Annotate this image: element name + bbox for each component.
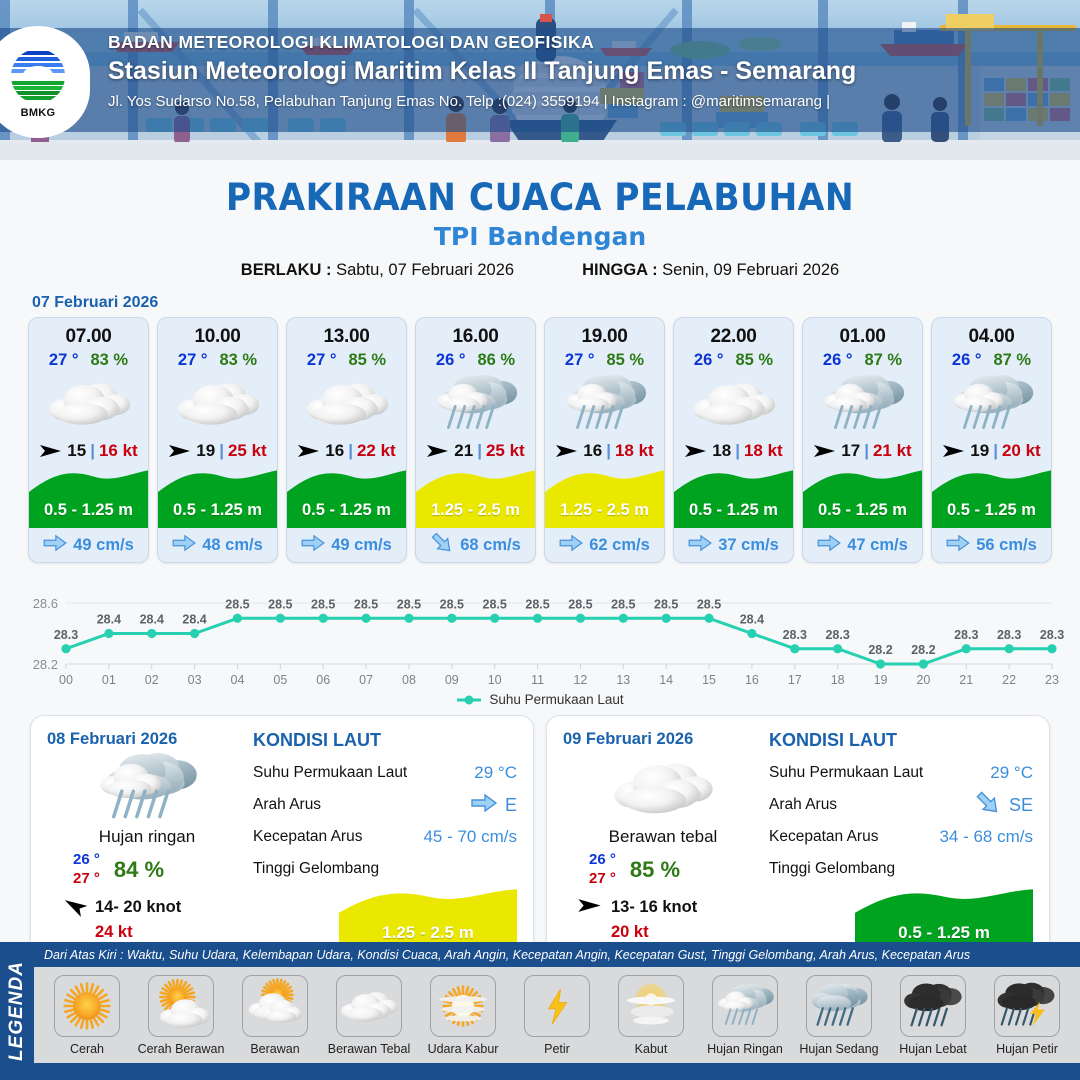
hourly-current-row: 48 cm/s (158, 528, 277, 562)
svg-text:04: 04 (231, 673, 245, 687)
sst-chart: 28.628.200010203040506070809101112131415… (14, 575, 1066, 690)
hourly-gust-speed: 21 kt (873, 441, 912, 461)
daily-wind-speed: 14- 20 knot (95, 898, 181, 917)
legenda-item: Hujan Petir (980, 975, 1074, 1056)
svg-text:05: 05 (273, 673, 287, 687)
hourly-current-speed: 37 cm/s (718, 536, 779, 555)
legenda-side-text: LEGENDA (6, 961, 28, 1061)
hourly-current-row: 62 cm/s (545, 528, 664, 562)
hourly-gust-speed: 25 kt (228, 441, 267, 461)
legenda-item-label: Cerah (70, 1042, 104, 1056)
svg-text:03: 03 (188, 673, 202, 687)
hujan-petir-icon (994, 975, 1060, 1037)
berawan-tebal-icon (158, 372, 277, 434)
hourly-card: 07.00 27 ° 83 % (28, 317, 149, 563)
hourly-humidity: 85 % (606, 351, 644, 370)
svg-text:28.5: 28.5 (354, 597, 378, 611)
cerah-icon (54, 975, 120, 1037)
svg-text:28.5: 28.5 (611, 597, 635, 611)
legenda-item: Cerah (40, 975, 134, 1056)
svg-text:28.5: 28.5 (568, 597, 592, 611)
svg-text:09: 09 (445, 673, 459, 687)
legenda-item-label: Hujan Lebat (899, 1042, 966, 1056)
wind-direction-arrow-icon (426, 443, 450, 459)
legenda-item: Hujan Lebat (886, 975, 980, 1056)
hourly-wave-height: 0.5 - 1.25 m (158, 501, 277, 520)
svg-text:10: 10 (488, 673, 502, 687)
legenda-item-label: Hujan Ringan (707, 1042, 783, 1056)
legenda-item-label: Hujan Sedang (799, 1042, 878, 1056)
hourly-temperature: 26 ° (823, 351, 853, 370)
svg-text:28.4: 28.4 (140, 613, 164, 627)
svg-text:28.4: 28.4 (97, 613, 121, 627)
hourly-time: 10.00 (158, 318, 277, 348)
wind-direction-arrow-icon (684, 443, 708, 459)
hujan-sedang-icon (806, 975, 872, 1037)
hourly-wave-height: 0.5 - 1.25 m (29, 501, 148, 520)
hourly-wind-separator: | (219, 441, 224, 461)
hujan-ringan-icon (803, 372, 922, 434)
svg-text:28.5: 28.5 (225, 597, 249, 611)
page-subtitle: TPI Bandengan (0, 222, 1080, 251)
bmkg-logo-label: BMKG (7, 107, 69, 119)
hourly-wind-separator: | (90, 441, 95, 461)
daily-sea-value: 34 - 68 cm/s (939, 827, 1033, 847)
hourly-temp-humidity: 26 ° 87 % (803, 348, 922, 370)
wind-direction-arrow-icon (813, 443, 837, 459)
hourly-wind-speed: 16 (325, 441, 344, 461)
wind-direction-arrow-icon (577, 897, 603, 919)
daily-sea-value: 29 °C (474, 763, 517, 783)
hourly-current-row: 37 cm/s (674, 528, 793, 562)
svg-text:28.3: 28.3 (825, 628, 849, 642)
hourly-current-speed: 49 cm/s (331, 536, 392, 555)
current-direction-arrow-icon (301, 534, 325, 557)
hourly-time: 16.00 (416, 318, 535, 348)
daily-sea-row: Arah Arus SE (769, 789, 1033, 821)
daily-sea-label: Arah Arus (253, 796, 471, 814)
svg-text:19: 19 (874, 673, 888, 687)
current-direction-arrow-icon (688, 534, 712, 557)
legend-marker-icon (456, 694, 482, 706)
hujan-ringan-icon (416, 372, 535, 434)
hourly-wave-height: 1.25 - 2.5 m (416, 501, 535, 520)
hourly-gust-speed: 22 kt (357, 441, 396, 461)
daily-sea-value: E (505, 795, 517, 816)
daily-sea-label: Arah Arus (769, 796, 975, 814)
wind-direction-arrow-icon (61, 897, 87, 919)
hourly-card: 01.00 26 ° 87 % (802, 317, 923, 563)
svg-text:11: 11 (531, 673, 544, 687)
svg-text:16: 16 (745, 673, 759, 687)
daily-sea-row: Tinggi Gelombang (253, 853, 517, 885)
hourly-wave-height: 0.5 - 1.25 m (674, 501, 793, 520)
current-direction-arrow-icon (430, 534, 454, 557)
hourly-current-row: 49 cm/s (29, 528, 148, 562)
hourly-card: 04.00 26 ° 87 % (931, 317, 1052, 563)
hourly-wind-row: 18 | 18 kt (674, 434, 793, 468)
current-direction-arrow-icon (946, 534, 970, 557)
svg-text:06: 06 (316, 673, 330, 687)
hourly-wave-graphic: 1.25 - 2.5 m (545, 468, 664, 528)
hourly-wave-graphic: 0.5 - 1.25 m (287, 468, 406, 528)
daily-sea-title: KONDISI LAUT (253, 730, 517, 751)
wind-direction-arrow-icon (39, 443, 63, 459)
hourly-wind-separator: | (348, 441, 353, 461)
hourly-humidity: 87 % (993, 351, 1031, 370)
legenda-item: Hujan Sedang (792, 975, 886, 1056)
hourly-wind-row: 21 | 25 kt (416, 434, 535, 468)
svg-text:28.5: 28.5 (525, 597, 549, 611)
daily-temp-max: 27 ° (73, 870, 100, 887)
svg-text:15: 15 (702, 673, 716, 687)
hourly-wind-separator: | (606, 441, 611, 461)
hourly-temp-humidity: 27 ° 85 % (287, 348, 406, 370)
hourly-current-speed: 47 cm/s (847, 536, 908, 555)
hourly-wave-height: 0.5 - 1.25 m (932, 501, 1051, 520)
legenda-item-label: Kabut (635, 1042, 668, 1056)
wind-direction-arrow-icon (555, 443, 579, 459)
svg-text:28.5: 28.5 (483, 597, 507, 611)
validity-row: BERLAKU : Sabtu, 07 Februari 2026 HINGGA… (0, 261, 1080, 280)
svg-text:28.6: 28.6 (33, 596, 58, 611)
hourly-time: 01.00 (803, 318, 922, 348)
daily-humidity: 85 % (630, 857, 680, 883)
hourly-temperature: 27 ° (49, 351, 79, 370)
hourly-wave-graphic: 0.5 - 1.25 m (674, 468, 793, 528)
hourly-temperature: 27 ° (178, 351, 208, 370)
valid-from: BERLAKU : Sabtu, 07 Februari 2026 (241, 261, 514, 280)
cerah-berawan-icon (148, 975, 214, 1037)
legenda-item: Hujan Ringan (698, 975, 792, 1056)
daily-sea-value: 45 - 70 cm/s (423, 827, 517, 847)
svg-text:28.2: 28.2 (868, 643, 892, 657)
daily-sea-value: SE (1009, 795, 1033, 816)
daily-condition: Hujan ringan (47, 827, 247, 847)
hourly-wave-graphic: 0.5 - 1.25 m (932, 468, 1051, 528)
daily-sea-block: KONDISI LAUT Suhu Permukaan Laut 29 °C A… (247, 730, 517, 948)
legenda-note: Dari Atas Kiri : Waktu, Suhu Udara, Kele… (34, 948, 1080, 967)
current-direction-arrow-icon (172, 534, 196, 557)
hourly-wind-speed: 15 (67, 441, 86, 461)
petir-icon (524, 975, 590, 1037)
svg-text:28.5: 28.5 (397, 597, 421, 611)
legenda-item: Petir (510, 975, 604, 1056)
hourly-wind-row: 19 | 20 kt (932, 434, 1051, 468)
hourly-current-row: 49 cm/s (287, 528, 406, 562)
daily-sea-row: Suhu Permukaan Laut 29 °C (769, 757, 1033, 789)
legenda-item: Berawan (228, 975, 322, 1056)
daily-sea-label: Suhu Permukaan Laut (253, 764, 474, 782)
legenda-item: Kabut (604, 975, 698, 1056)
svg-text:12: 12 (573, 673, 587, 687)
hourly-current-row: 68 cm/s (416, 528, 535, 562)
hourly-wind-separator: | (864, 441, 869, 461)
daily-wind-row: 14- 20 knot (47, 897, 247, 919)
svg-text:28.3: 28.3 (54, 628, 78, 642)
svg-text:13: 13 (616, 673, 630, 687)
valid-to: HINGGA : Senin, 09 Februari 2026 (582, 261, 839, 280)
hourly-humidity: 83 % (90, 351, 128, 370)
daily-gust-speed: 24 kt (47, 923, 247, 942)
hourly-temperature: 27 ° (565, 351, 595, 370)
weather-forecast-infographic: BMKG BADAN METEOROLOGI KLIMATOLOGI DAN G… (0, 0, 1080, 1080)
hourly-temp-humidity: 27 ° 85 % (545, 348, 664, 370)
svg-text:28.5: 28.5 (440, 597, 464, 611)
legenda-item: Udara Kabur (416, 975, 510, 1056)
daily-wave-graphic: 1.25 - 2.5 m (339, 888, 517, 950)
hourly-wind-speed: 19 (970, 441, 989, 461)
daily-sea-label: Suhu Permukaan Laut (769, 764, 990, 782)
hourly-wave-graphic: 0.5 - 1.25 m (158, 468, 277, 528)
hourly-current-speed: 49 cm/s (73, 536, 134, 555)
berawan-tebal-icon (287, 372, 406, 434)
daily-temp-humidity: 26 ° 27 ° 85 % (563, 851, 763, 889)
hujan-lebat-icon (900, 975, 966, 1037)
berawan-icon (242, 975, 308, 1037)
hourly-current-speed: 68 cm/s (460, 536, 521, 555)
daily-condition: Berawan tebal (563, 827, 763, 847)
legenda-item-label: Berawan (250, 1042, 299, 1056)
hourly-date-label: 07 Februari 2026 (32, 294, 1080, 312)
current-direction-arrow-icon (471, 793, 497, 818)
bmkg-logo: BMKG (0, 26, 90, 138)
svg-text:28.3: 28.3 (997, 628, 1021, 642)
wind-direction-arrow-icon (942, 443, 966, 459)
daily-date: 09 Februari 2026 (563, 730, 763, 749)
hourly-wind-speed: 16 (583, 441, 602, 461)
legenda-side-label: LEGENDA (0, 942, 34, 1080)
daily-temp-min: 26 ° (589, 851, 616, 868)
hourly-current-speed: 48 cm/s (202, 536, 263, 555)
svg-text:18: 18 (831, 673, 845, 687)
header-bottom-strip (0, 142, 1080, 160)
hourly-temp-humidity: 26 ° 86 % (416, 348, 535, 370)
svg-text:07: 07 (359, 673, 373, 687)
daily-humidity: 84 % (114, 857, 164, 883)
daily-sea-row: Kecepatan Arus 34 - 68 cm/s (769, 821, 1033, 853)
current-direction-arrow-icon (817, 534, 841, 557)
svg-text:28.3: 28.3 (954, 628, 978, 642)
daily-sea-label: Kecepatan Arus (769, 828, 939, 846)
station-name: Stasiun Meteorologi Maritim Kelas II Tan… (108, 57, 1073, 86)
current-direction-arrow-icon (559, 534, 583, 557)
daily-temp-min: 26 ° (73, 851, 100, 868)
hourly-card: 16.00 26 ° 86 % (415, 317, 536, 563)
chart-legend-label: Suhu Permukaan Laut (489, 692, 623, 707)
hourly-card: 19.00 27 ° 85 % (544, 317, 665, 563)
svg-text:28.3: 28.3 (1040, 628, 1064, 642)
svg-text:20: 20 (916, 673, 930, 687)
valid-from-label: BERLAKU : (241, 261, 332, 279)
svg-text:28.2: 28.2 (911, 643, 935, 657)
daily-sea-row: Kecepatan Arus 45 - 70 cm/s (253, 821, 517, 853)
hourly-gust-speed: 18 kt (615, 441, 654, 461)
svg-text:28.4: 28.4 (182, 613, 206, 627)
hourly-wind-separator: | (993, 441, 998, 461)
hourly-current-row: 47 cm/s (803, 528, 922, 562)
daily-sea-label: Kecepatan Arus (253, 828, 423, 846)
daily-gust-speed: 20 kt (563, 923, 763, 942)
daily-left-block: 08 Februari 2026 Hujan ringan (47, 730, 247, 948)
svg-text:28.3: 28.3 (783, 628, 807, 642)
hourly-card: 10.00 27 ° 83 % (157, 317, 278, 563)
daily-current-direction: SE (975, 793, 1033, 818)
svg-text:28.4: 28.4 (740, 613, 764, 627)
svg-text:14: 14 (659, 673, 673, 687)
hourly-wind-speed: 17 (841, 441, 860, 461)
hourly-wave-height: 1.25 - 2.5 m (545, 501, 664, 520)
hourly-time: 22.00 (674, 318, 793, 348)
hourly-forecast-row: 07.00 27 ° 83 % (0, 317, 1080, 563)
hourly-wave-graphic: 0.5 - 1.25 m (803, 468, 922, 528)
hourly-humidity: 87 % (864, 351, 902, 370)
hourly-humidity: 85 % (735, 351, 773, 370)
legenda-item: Cerah Berawan (134, 975, 228, 1056)
daily-wave-height: 1.25 - 2.5 m (339, 923, 517, 943)
daily-temp-max: 27 ° (589, 870, 616, 887)
daily-wind-row: 13- 16 knot (563, 897, 763, 919)
svg-text:28.5: 28.5 (268, 597, 292, 611)
svg-text:00: 00 (59, 673, 73, 687)
svg-text:28.5: 28.5 (311, 597, 335, 611)
hourly-wind-row: 19 | 25 kt (158, 434, 277, 468)
hourly-wind-row: 16 | 18 kt (545, 434, 664, 468)
hourly-temp-humidity: 26 ° 87 % (932, 348, 1051, 370)
hourly-current-row: 56 cm/s (932, 528, 1051, 562)
hourly-gust-speed: 20 kt (1002, 441, 1041, 461)
hourly-wind-row: 17 | 21 kt (803, 434, 922, 468)
hujan-ringan-icon (932, 372, 1051, 434)
daily-sea-row: Suhu Permukaan Laut 29 °C (253, 757, 517, 789)
legenda-main: Dari Atas Kiri : Waktu, Suhu Udara, Kele… (34, 942, 1080, 1080)
daily-forecast-card: 08 Februari 2026 Hujan ringan (30, 715, 534, 963)
hourly-wind-speed: 18 (712, 441, 731, 461)
hourly-wind-speed: 19 (196, 441, 215, 461)
agency-name: BADAN METEOROLOGI KLIMATOLOGI DAN GEOFIS… (108, 32, 1073, 53)
hourly-card: 13.00 27 ° 85 % (286, 317, 407, 563)
hourly-temperature: 26 ° (436, 351, 466, 370)
hujan-ringan-icon (47, 751, 247, 823)
current-direction-arrow-icon (43, 534, 67, 557)
kabut-icon (618, 975, 684, 1037)
hourly-temp-humidity: 26 ° 85 % (674, 348, 793, 370)
header-text-block: BADAN METEOROLOGI KLIMATOLOGI DAN GEOFIS… (108, 32, 1073, 110)
wind-direction-arrow-icon (297, 443, 321, 459)
hourly-wind-separator: | (735, 441, 740, 461)
hourly-time: 07.00 (29, 318, 148, 348)
valid-to-label: HINGGA : (582, 261, 657, 279)
berawan-tebal-icon (563, 751, 763, 823)
svg-text:02: 02 (145, 673, 159, 687)
berawan-tebal-icon (674, 372, 793, 434)
hourly-wave-height: 0.5 - 1.25 m (287, 501, 406, 520)
valid-to-value: Senin, 09 Februari 2026 (662, 261, 839, 279)
legenda-item-label: Cerah Berawan (138, 1042, 225, 1056)
hourly-wind-row: 15 | 16 kt (29, 434, 148, 468)
hourly-time: 13.00 (287, 318, 406, 348)
legenda-item-label: Udara Kabur (428, 1042, 499, 1056)
daily-sea-label: Tinggi Gelombang (253, 860, 517, 878)
svg-text:28.5: 28.5 (697, 597, 721, 611)
legenda-items: Cerah Cerah Berawan (34, 967, 1080, 1063)
daily-sea-block: KONDISI LAUT Suhu Permukaan Laut 29 °C A… (763, 730, 1033, 948)
svg-text:23: 23 (1045, 673, 1059, 687)
hourly-temperature: 26 ° (694, 351, 724, 370)
legenda-section: LEGENDA Dari Atas Kiri : Waktu, Suhu Uda… (0, 942, 1080, 1080)
svg-text:01: 01 (102, 673, 116, 687)
svg-text:08: 08 (402, 673, 416, 687)
berawan-tebal-icon (29, 372, 148, 434)
berawan-tebal-icon (336, 975, 402, 1037)
daily-sea-row: Arah Arus E (253, 789, 517, 821)
hourly-current-speed: 56 cm/s (976, 536, 1037, 555)
hourly-card: 22.00 26 ° 85 % (673, 317, 794, 563)
hourly-humidity: 83 % (219, 351, 257, 370)
page-title: PRAKIRAAN CUACA PELABUHAN (38, 176, 1042, 219)
daily-sea-label: Tinggi Gelombang (769, 860, 1033, 878)
hourly-wave-height: 0.5 - 1.25 m (803, 501, 922, 520)
svg-text:22: 22 (1002, 673, 1016, 687)
daily-forecast-card: 09 Februari 2026 Berawan tebal (546, 715, 1050, 963)
legenda-item: Berawan Tebal (322, 975, 416, 1056)
hourly-humidity: 85 % (348, 351, 386, 370)
title-block: PRAKIRAAN CUACA PELABUHAN TPI Bandengan … (0, 176, 1080, 280)
daily-forecast-row: 08 Februari 2026 Hujan ringan (0, 707, 1080, 963)
hourly-temp-humidity: 27 ° 83 % (158, 348, 277, 370)
svg-text:28.2: 28.2 (33, 657, 58, 672)
svg-text:28.5: 28.5 (654, 597, 678, 611)
legenda-item-label: Petir (544, 1042, 570, 1056)
hourly-temperature: 26 ° (952, 351, 982, 370)
hourly-wind-speed: 21 (454, 441, 473, 461)
daily-sea-title: KONDISI LAUT (769, 730, 1033, 751)
daily-sea-row: Tinggi Gelombang (769, 853, 1033, 885)
hourly-wind-separator: | (477, 441, 482, 461)
chart-legend: Suhu Permukaan Laut (0, 692, 1080, 707)
daily-wave-graphic: 0.5 - 1.25 m (855, 888, 1033, 950)
daily-current-direction: E (471, 793, 517, 818)
station-address: Jl. Yos Sudarso No.58, Pelabuhan Tanjung… (108, 93, 1073, 110)
daily-sea-value: 29 °C (990, 763, 1033, 783)
valid-from-value: Sabtu, 07 Februari 2026 (336, 261, 514, 279)
daily-left-block: 09 Februari 2026 Berawan tebal (563, 730, 763, 948)
hourly-gust-speed: 16 kt (99, 441, 138, 461)
daily-wind-speed: 13- 16 knot (611, 898, 697, 917)
udara-kabur-icon (430, 975, 496, 1037)
legenda-item-label: Hujan Petir (996, 1042, 1058, 1056)
wind-direction-arrow-icon (168, 443, 192, 459)
hourly-time: 04.00 (932, 318, 1051, 348)
svg-text:21: 21 (959, 673, 973, 687)
daily-wave-height: 0.5 - 1.25 m (855, 923, 1033, 943)
hourly-wind-row: 16 | 22 kt (287, 434, 406, 468)
hourly-gust-speed: 25 kt (486, 441, 525, 461)
hujan-ringan-icon (712, 975, 778, 1037)
daily-temp-humidity: 26 ° 27 ° 84 % (47, 851, 247, 889)
hourly-humidity: 86 % (477, 351, 515, 370)
hourly-gust-speed: 18 kt (744, 441, 783, 461)
hourly-current-speed: 62 cm/s (589, 536, 650, 555)
hourly-wave-graphic: 0.5 - 1.25 m (29, 468, 148, 528)
hourly-time: 19.00 (545, 318, 664, 348)
hourly-wave-graphic: 1.25 - 2.5 m (416, 468, 535, 528)
hourly-temperature: 27 ° (307, 351, 337, 370)
svg-text:17: 17 (788, 673, 802, 687)
legenda-item-label: Berawan Tebal (328, 1042, 410, 1056)
hourly-temp-humidity: 27 ° 83 % (29, 348, 148, 370)
page-header: BMKG BADAN METEOROLOGI KLIMATOLOGI DAN G… (0, 0, 1080, 160)
